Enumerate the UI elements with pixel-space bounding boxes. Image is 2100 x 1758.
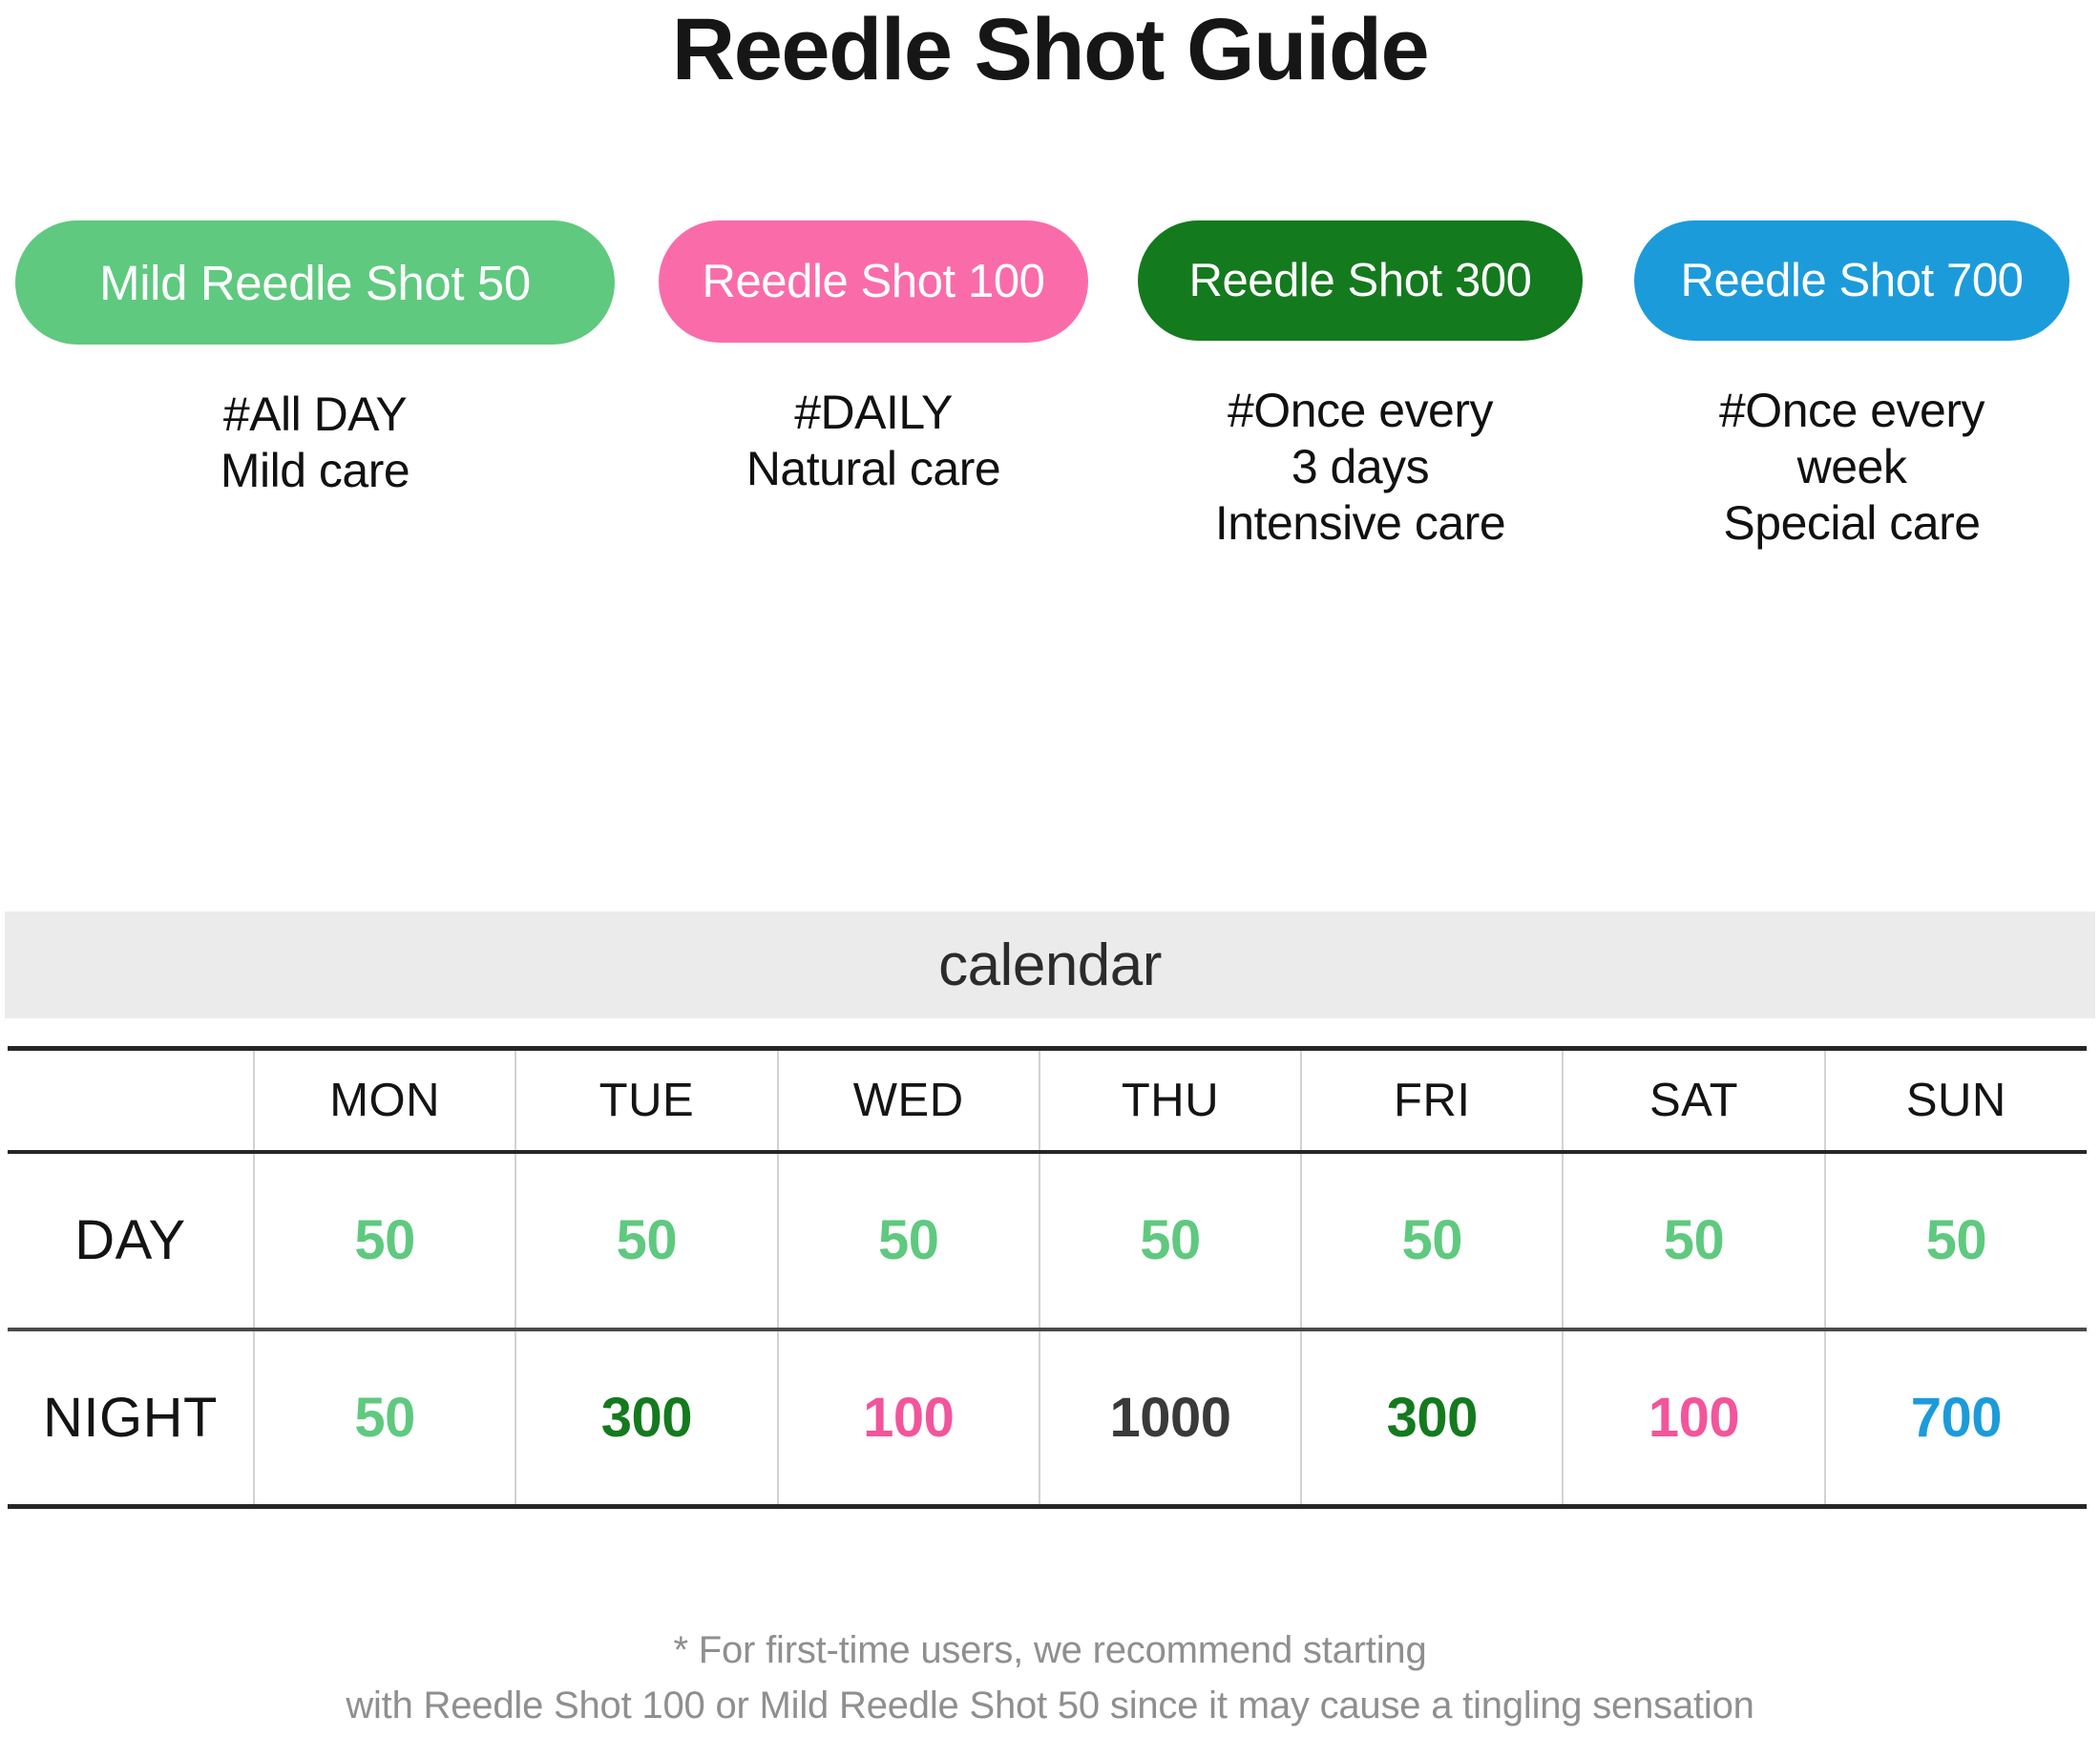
corner-header: [8, 1049, 254, 1152]
column-header-sun: SUN: [1825, 1049, 2087, 1152]
product-badge-mild-reedle-shot-50[interactable]: Mild Reedle Shot 50: [15, 220, 615, 345]
column-header-fri: FRI: [1301, 1049, 1563, 1152]
caption-line: Special care: [1719, 495, 1984, 552]
product-badge-reedle-shot-700[interactable]: Reedle Shot 700: [1634, 220, 2069, 341]
cell-day-mon: 50: [254, 1152, 515, 1329]
caption-line: #DAILY: [746, 385, 1000, 441]
footnote-line: with Reedle Shot 100 or Mild Reedle Shot…: [0, 1678, 2100, 1733]
calendar-table-head: MON TUE WED THU FRI SAT SUN: [8, 1049, 2087, 1152]
product-caption-reedle-shot-700: #Once every week Special care: [1719, 383, 1984, 552]
calendar-header-band: calendar: [5, 911, 2095, 1018]
column-header-mon: MON: [254, 1049, 515, 1152]
product-list: Mild Reedle Shot 50 #All DAY Mild care R…: [0, 220, 2100, 552]
caption-line: Natural care: [746, 441, 1000, 497]
product-badge-label: Reedle Shot 700: [1680, 254, 2023, 307]
cell-night-wed: 100: [778, 1329, 1039, 1507]
cell-day-thu: 50: [1039, 1152, 1301, 1329]
cell-night-sun: 700: [1825, 1329, 2087, 1507]
column-header-sat: SAT: [1563, 1049, 1824, 1152]
cell-day-sat: 50: [1563, 1152, 1824, 1329]
row-label-night: NIGHT: [8, 1329, 254, 1507]
column-header-wed: WED: [778, 1049, 1039, 1152]
table-row: NIGHT 50 300 100 1000 300 100 700: [8, 1329, 2087, 1507]
product-caption-reedle-shot-300: #Once every 3 days Intensive care: [1215, 383, 1505, 552]
product-badge-reedle-shot-100[interactable]: Reedle Shot 100: [659, 220, 1088, 343]
caption-line: #Once every: [1719, 383, 1984, 439]
caption-line: Mild care: [220, 443, 409, 499]
product-badge-reedle-shot-300[interactable]: Reedle Shot 300: [1138, 220, 1583, 341]
cell-day-wed: 50: [778, 1152, 1039, 1329]
caption-line: week: [1719, 439, 1984, 495]
cell-day-tue: 50: [515, 1152, 777, 1329]
product-card-reedle-shot-700: Reedle Shot 700 #Once every week Special…: [1604, 220, 2100, 552]
calendar-title: calendar: [938, 931, 1162, 999]
product-caption-reedle-shot-100: #DAILY Natural care: [746, 385, 1000, 497]
column-header-thu: THU: [1039, 1049, 1301, 1152]
product-badge-label: Reedle Shot 300: [1188, 254, 1531, 307]
row-label-day: DAY: [8, 1152, 254, 1329]
footnote-line: * For first-time users, we recommend sta…: [0, 1622, 2100, 1678]
caption-line: #All DAY: [220, 387, 409, 443]
calendar-table: MON TUE WED THU FRI SAT SUN DAY 50 50 50…: [8, 1046, 2087, 1509]
caption-line: 3 days: [1215, 439, 1505, 495]
page-title: Reedle Shot Guide: [0, 0, 2100, 98]
cell-night-sat: 100: [1563, 1329, 1824, 1507]
footnote: * For first-time users, we recommend sta…: [0, 1622, 2100, 1733]
cell-night-fri: 300: [1301, 1329, 1563, 1507]
product-badge-label: Reedle Shot 100: [702, 255, 1044, 308]
cell-night-mon: 50: [254, 1329, 515, 1507]
product-badge-label: Mild Reedle Shot 50: [99, 255, 531, 311]
table-row: DAY 50 50 50 50 50 50 50: [8, 1152, 2087, 1329]
caption-line: #Once every: [1215, 383, 1505, 439]
product-caption-mild-reedle-shot-50: #All DAY Mild care: [220, 387, 409, 499]
product-card-mild-reedle-shot-50: Mild Reedle Shot 50 #All DAY Mild care: [0, 220, 630, 499]
table-header-row: MON TUE WED THU FRI SAT SUN: [8, 1049, 2087, 1152]
calendar-table-body: DAY 50 50 50 50 50 50 50 NIGHT 50 300 10…: [8, 1152, 2087, 1507]
product-card-reedle-shot-100: Reedle Shot 100 #DAILY Natural care: [630, 220, 1117, 497]
cell-day-fri: 50: [1301, 1152, 1563, 1329]
product-card-reedle-shot-300: Reedle Shot 300 #Once every 3 days Inten…: [1117, 220, 1604, 552]
cell-night-tue: 300: [515, 1329, 777, 1507]
column-header-tue: TUE: [515, 1049, 777, 1152]
cell-day-sun: 50: [1825, 1152, 2087, 1329]
cell-night-thu: 1000: [1039, 1329, 1301, 1507]
caption-line: Intensive care: [1215, 495, 1505, 552]
